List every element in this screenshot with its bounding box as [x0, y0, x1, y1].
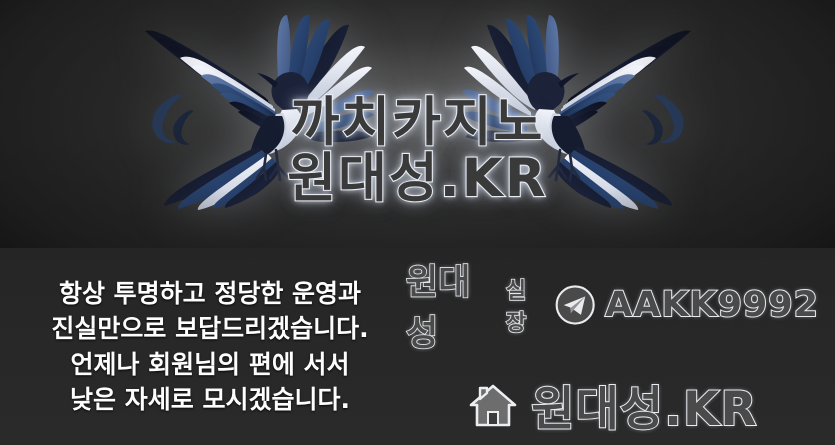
contact-block: 원대성 실장 AAKK9992 원대성.KR [406, 254, 835, 439]
manager-role: 실장 [506, 273, 545, 337]
slogan-line-4: 낮은 자세로 모시겠습니다. [14, 382, 406, 418]
hero-section: 까치카지노 원대성.KR [0, 0, 835, 248]
slogan-line-2: 진실만으로 보답드리겠습니다. [14, 311, 406, 347]
telegram-handle[interactable]: AAKK9992 [605, 285, 819, 325]
brand-logo: 까치카지노 원대성.KR [0, 96, 835, 206]
casino-ad-banner: 까치카지노 원대성.KR 항상 투명하고 정당한 운영과 진실만으로 보답드리겠… [0, 0, 835, 445]
slogan-block: 항상 투명하고 정당한 운영과 진실만으로 보답드리겠습니다. 언제나 회원님의… [0, 276, 406, 418]
site-url[interactable]: 원대성.KR [531, 370, 757, 439]
slogan-line-1: 항상 투명하고 정당한 운영과 [14, 276, 406, 312]
telegram-icon[interactable] [554, 283, 596, 327]
website-row[interactable]: 원대성.KR [467, 370, 757, 439]
manager-name: 원대성 [406, 254, 499, 356]
telegram-contact-row[interactable]: 원대성 실장 AAKK9992 [406, 254, 819, 356]
logo-title-line1: 까치카지노 [0, 96, 835, 150]
home-icon [467, 381, 519, 429]
bottom-section: 항상 투명하고 정당한 운영과 진실만으로 보답드리겠습니다. 언제나 회원님의… [0, 248, 835, 445]
logo-title-line2: 원대성.KR [0, 152, 835, 206]
slogan-line-3: 언제나 회원님의 편에 서서 [14, 347, 406, 383]
